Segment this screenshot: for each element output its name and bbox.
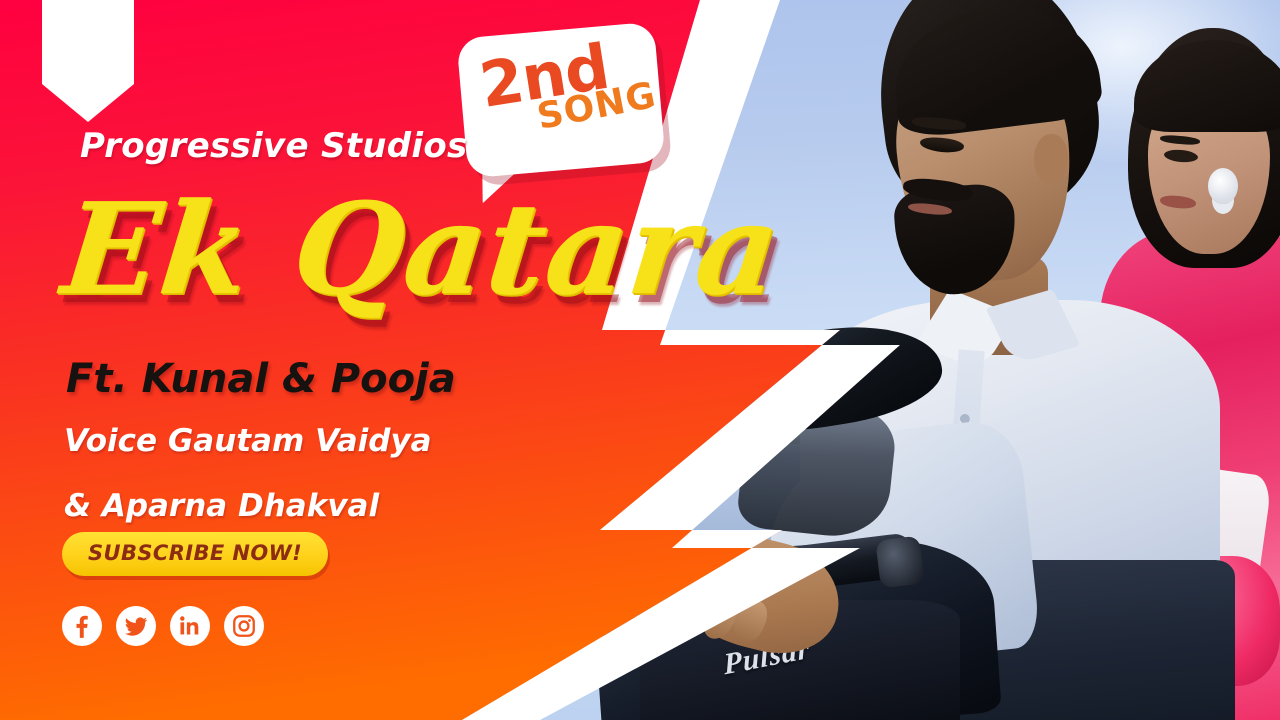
song-title: Ek Qatara — [57, 186, 786, 312]
voice-credit-line-2: & Aparna Dhakval — [64, 488, 379, 524]
linkedin-icon — [177, 613, 203, 639]
facebook-icon — [69, 613, 95, 639]
twitter-icon — [123, 613, 149, 639]
linkedin-link[interactable] — [170, 606, 210, 646]
studio-name: Progressive Studios — [80, 126, 468, 166]
thumbnail-canvas: Pulsar 2n — [0, 0, 1280, 720]
voice-credit-line-1: Voice Gautam Vaidya — [64, 423, 432, 459]
twitter-link[interactable] — [116, 606, 156, 646]
second-song-badge: 2nd SONG — [456, 22, 665, 179]
ribbon-marker — [42, 0, 134, 122]
subscribe-label: SUBSCRIBE NOW! — [88, 541, 302, 565]
facebook-link[interactable] — [62, 606, 102, 646]
featuring-line: Ft. Kunal & Pooja — [66, 356, 456, 402]
left-content-panel: 2nd SONG Progressive Studios Ek Qatara F… — [0, 0, 1280, 720]
instagram-icon — [231, 613, 257, 639]
social-links — [62, 606, 264, 646]
subscribe-button[interactable]: SUBSCRIBE NOW! — [62, 532, 328, 576]
instagram-link[interactable] — [224, 606, 264, 646]
